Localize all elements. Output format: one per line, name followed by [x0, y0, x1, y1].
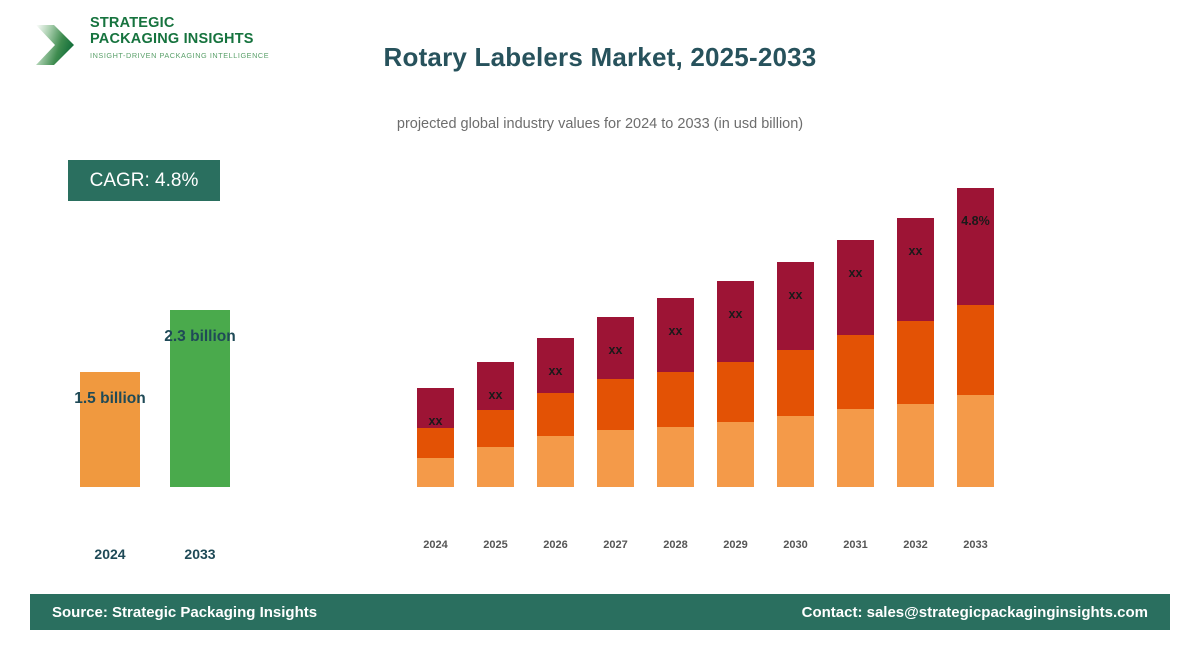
stacked-bar	[957, 188, 994, 487]
stacked-bar-value-label: 4.8%	[941, 214, 1011, 228]
stacked-bar-category-label: 2033	[941, 539, 1011, 551]
stacked-bar-segment	[417, 428, 454, 458]
footer-bar: Source: Strategic Packaging Insights Con…	[30, 594, 1170, 630]
stacked-bar-value-label: xx	[581, 343, 651, 357]
stacked-bar-segment	[897, 404, 934, 487]
stacked-bar-segment	[837, 240, 874, 335]
stacked-bar	[537, 338, 574, 487]
stacked-bar-segment	[597, 430, 634, 487]
stacked-bar-segment	[897, 321, 934, 404]
stacked-bar	[417, 388, 454, 487]
stacked-bar-value-label: xx	[761, 288, 831, 302]
stacked-bar-segment	[897, 218, 934, 321]
stacked-bar-segment	[717, 422, 754, 487]
stacked-bar-segment	[717, 362, 754, 422]
stacked-bar-segment	[837, 409, 874, 487]
yearly-stacked-forecast-chart: xx2024xx2025xx2026xx2027xx2028xx2029xx20…	[0, 0, 1200, 600]
stacked-bar-segment	[417, 458, 454, 487]
stacked-bar	[897, 218, 934, 487]
stacked-bar-segment	[957, 188, 994, 305]
stacked-bar-value-label: xx	[461, 388, 531, 402]
stacked-bar-segment	[477, 447, 514, 487]
stacked-bar-segment	[537, 436, 574, 487]
stacked-bar-segment	[657, 427, 694, 487]
stacked-bar-segment	[837, 335, 874, 409]
stacked-bar-segment	[957, 395, 994, 487]
stacked-bar-value-label: xx	[881, 244, 951, 258]
stacked-bar-segment	[777, 350, 814, 416]
stacked-bar-value-label: xx	[701, 307, 771, 321]
stacked-bar-segment	[777, 262, 814, 350]
stacked-bar-segment	[657, 372, 694, 427]
stacked-bar-segment	[477, 362, 514, 410]
infographic-page: STRATEGIC PACKAGING INSIGHTS INSIGHT-DRI…	[0, 0, 1200, 650]
stacked-bar-segment	[597, 379, 634, 430]
stacked-bar-value-label: xx	[401, 414, 471, 428]
stacked-bar-value-label: xx	[641, 324, 711, 338]
stacked-bar-segment	[777, 416, 814, 487]
stacked-bar	[477, 362, 514, 487]
stacked-bar-value-label: xx	[821, 266, 891, 280]
footer-contact[interactable]: Contact: sales@strategicpackaginginsight…	[802, 604, 1148, 621]
stacked-bar-segment	[537, 393, 574, 436]
stacked-bar-segment	[957, 305, 994, 395]
stacked-bar-segment	[717, 281, 754, 362]
footer-source: Source: Strategic Packaging Insights	[52, 604, 317, 621]
stacked-bar-value-label: xx	[521, 364, 591, 378]
stacked-bar-segment	[477, 410, 514, 447]
